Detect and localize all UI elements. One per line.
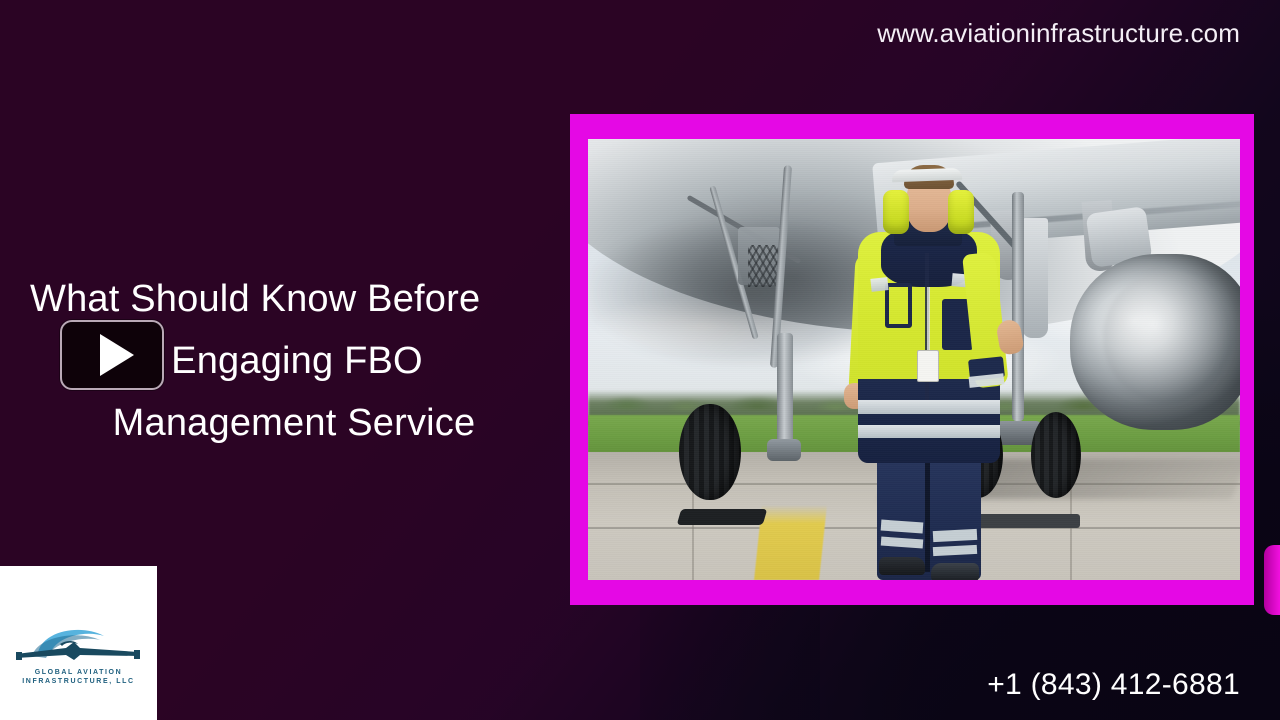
media-photo [588, 139, 1240, 580]
play-button[interactable] [60, 320, 164, 390]
photo-wheel-chock [677, 509, 768, 525]
logo-wordmark: GLOBAL AVIATION INFRASTRUCTURE, LLC [6, 668, 151, 686]
photo-worker-jacket-hem [858, 379, 1000, 463]
photo-worker-lanyard [927, 287, 930, 354]
photo-gear-hub [767, 439, 801, 461]
photo-worker-ear-defender-cup [883, 190, 909, 234]
photo-worker-ear-defender-cup [948, 190, 974, 234]
photo-worker-leg-gap [925, 463, 930, 572]
logo-line-2: INFRASTRUCTURE, LLC [6, 677, 151, 686]
logo-line-1: GLOBAL AVIATION [6, 668, 151, 677]
photo-gear-strut [777, 333, 793, 448]
title-line-3: Management Service [22, 392, 552, 454]
logo-mark-icon [8, 622, 148, 670]
photo-worker-reflective-band [858, 400, 1000, 414]
photo-worker-reflective-band [933, 529, 977, 542]
logo-panel: GLOBAL AVIATION INFRASTRUCTURE, LLC [0, 566, 157, 720]
contact-phone-number: +1 (843) 412-6881 [987, 668, 1240, 702]
photo-engine-intake [1103, 271, 1233, 403]
photo-worker-shoe [879, 557, 925, 575]
website-url: www.aviationinfrastructure.com [877, 18, 1240, 49]
play-triangle-icon [100, 334, 134, 376]
photo-tire [679, 404, 741, 500]
photo-worker-jacket-pocket [885, 283, 912, 329]
edge-accent-tab [1264, 545, 1280, 615]
photo-worker-id-badge [917, 350, 939, 382]
photo-gear-mesh [748, 245, 778, 287]
photo-ground-crew-worker [823, 161, 1032, 580]
photo-worker-shoe [931, 563, 979, 580]
media-frame [570, 114, 1254, 605]
photo-worker-reflective-band [858, 425, 1000, 438]
presentation-slide: www.aviationinfrastructure.com What Shou… [0, 0, 1280, 720]
photo-worker-reflective-band [870, 278, 888, 293]
